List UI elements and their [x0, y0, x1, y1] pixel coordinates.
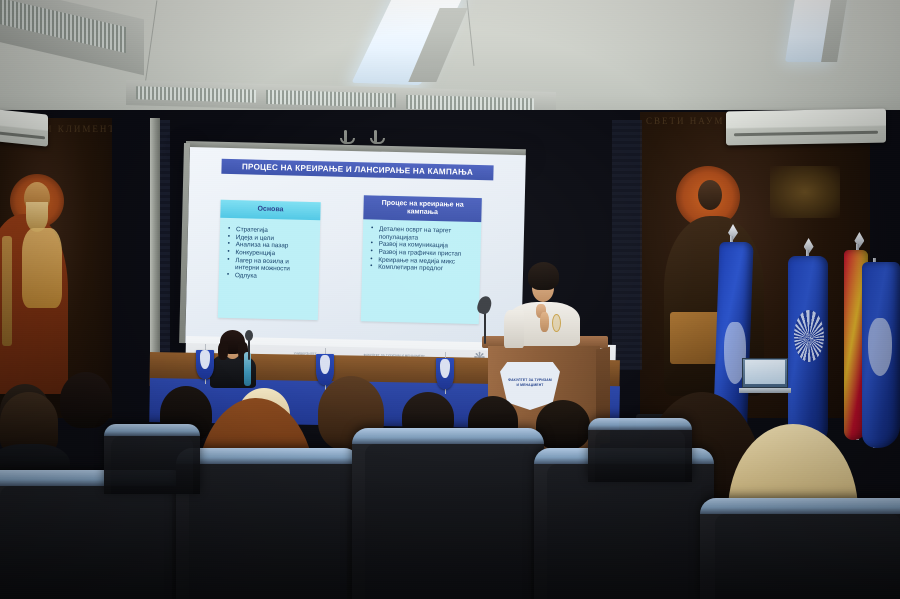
ac-unit-left	[0, 109, 48, 146]
audience-chair	[104, 424, 200, 494]
audience-chair	[176, 448, 360, 599]
speaker-necklace	[552, 314, 561, 332]
audience-head	[536, 400, 590, 452]
right-box-header: Процес на креирање на кампања	[363, 195, 482, 222]
table-pennant-3	[436, 352, 454, 394]
slide-title: ПРОЦЕС НА КРЕИРАЊЕ И ЛАНСИРАЊЕ НА КАМПАЊ…	[221, 159, 493, 181]
right-box-bullets: Детален осврт на таргет популацијата Раз…	[362, 225, 481, 274]
institution-flag-3	[862, 258, 900, 448]
speaker-presenter	[508, 258, 580, 344]
slide-left-box: Основа Стратегија Идеја и цели Анализа н…	[218, 200, 321, 320]
light-grille-3a	[136, 86, 256, 102]
table-microphone	[244, 330, 254, 360]
ac-unit-right	[726, 109, 886, 146]
projection-screen: ПРОЦЕС НА КРЕИРАЊЕ И ЛАНСИРАЊЕ НА КАМПАЊ…	[185, 147, 526, 351]
window-blind-left	[160, 120, 170, 382]
audience-chair	[700, 498, 900, 599]
wall-pillar	[150, 118, 160, 388]
audience-chair	[352, 428, 544, 599]
light-grille-3b	[266, 90, 396, 108]
bullet-item: Одлука	[226, 272, 313, 282]
screen-hook-1	[344, 130, 347, 144]
window-blind-right	[612, 120, 642, 370]
podium-crest-text: ФАКУЛТЕТ ЗА ТУРИЗАМ И МЕНАЏМЕНТ	[500, 378, 560, 388]
audience-head	[60, 372, 112, 432]
laptop	[742, 358, 788, 388]
screen-hook-2	[374, 130, 377, 144]
audience-chair	[588, 418, 692, 482]
institution-flag-2	[786, 250, 830, 450]
slide-right-box: Процес на креирање на кампања Детален ос…	[361, 195, 482, 324]
bullet-item: Комплетиран предлог	[369, 264, 474, 274]
left-box-bullets: Стратегија Идеја и цели Анализа на пазар…	[219, 226, 320, 282]
left-box-header: Основа	[220, 200, 320, 220]
podium-microphone	[478, 296, 492, 344]
table-pennant-1	[196, 344, 214, 384]
lecture-hall-photo: СВЕТИ КЛИМЕНТ ОХРИДСКИ СВЕТИ НАУМ ПРОЦЕС…	[0, 0, 900, 599]
